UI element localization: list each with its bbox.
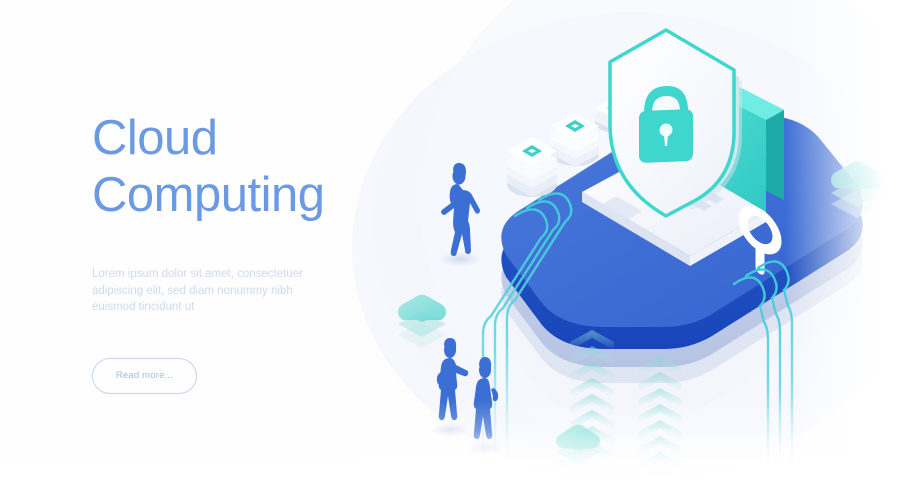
person-walking [439, 163, 481, 267]
read-more-button[interactable]: Read more... [92, 358, 197, 394]
hero-text-column: Cloud Computing Lorem ipsum dolor sit am… [92, 110, 372, 394]
hero-banner: Cloud Computing Lorem ipsum dolor sit am… [0, 0, 905, 500]
page-title: Cloud Computing [92, 110, 372, 224]
hero-paragraph: Lorem ipsum dolor sit amet, consectetuer… [92, 266, 317, 316]
right-edge-fade [785, 0, 905, 500]
bottom-edge-fade [0, 430, 905, 500]
read-more-label: Read more... [116, 370, 173, 381]
layer-stack-left [398, 295, 446, 349]
security-shield [610, 30, 742, 216]
